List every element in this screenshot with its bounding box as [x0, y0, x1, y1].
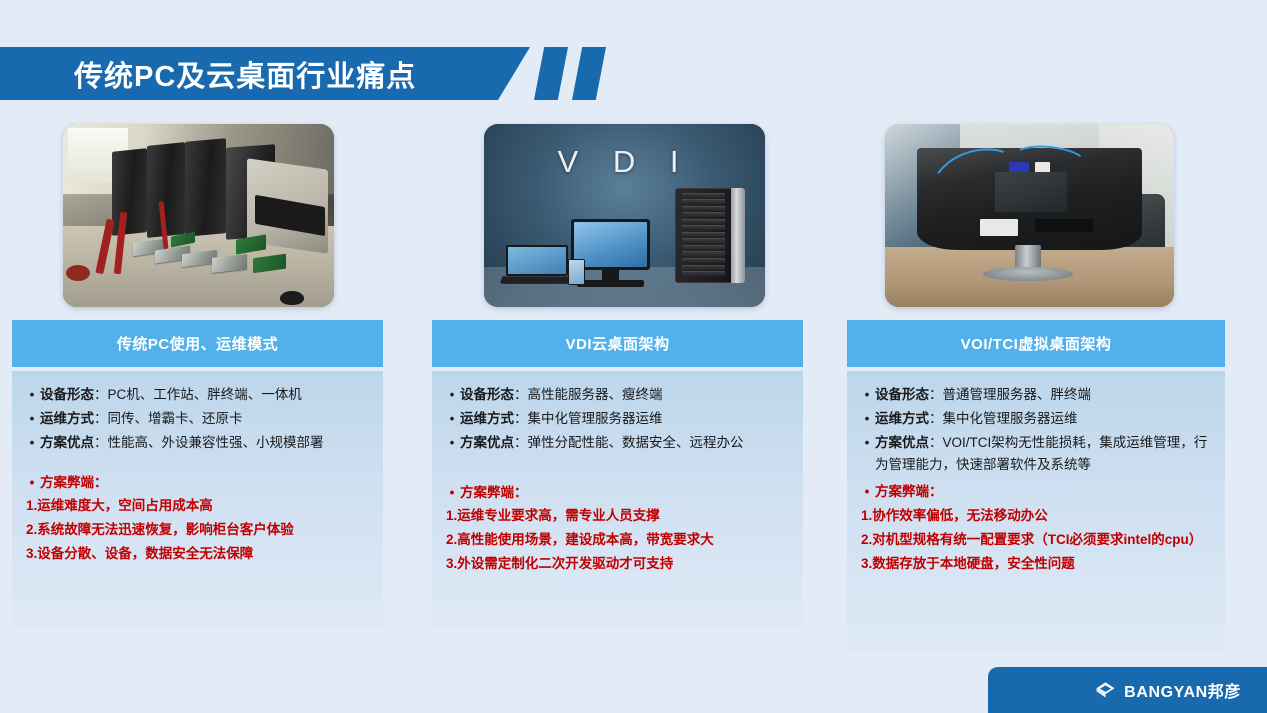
- photo1-pc-tower: [185, 139, 226, 238]
- photo1-pc-tower: [112, 148, 147, 236]
- photo2-monitor-base: [577, 280, 644, 287]
- bullet-label: 设备形态: [875, 387, 929, 402]
- bullet-label: 设备形态: [460, 387, 514, 402]
- spacer: [24, 456, 373, 472]
- card-header-label: VOI/TCI虚拟桌面架构: [961, 333, 1112, 354]
- bullet-dot-icon: •: [444, 482, 460, 504]
- photo2-laptop: [506, 245, 568, 276]
- bullet-label: 运维方式: [875, 411, 929, 426]
- bullet-item: • 方案优点：弹性分配性能、数据安全、远程办公: [444, 432, 793, 454]
- photo2-rack-blade: [682, 199, 726, 204]
- cons-title-label: 方案弊端：: [40, 472, 108, 494]
- bullet-separator: ：: [929, 387, 943, 402]
- photo2-rack-blade: [682, 206, 726, 211]
- photo2-rack-side-panel: [731, 188, 745, 283]
- photo2-rack-blade: [682, 271, 726, 276]
- card-header: 传统PC使用、运维模式: [12, 320, 383, 367]
- photo2-rack-blade: [682, 232, 726, 237]
- cons-title: • 方案弊端：: [24, 472, 373, 494]
- bullet-label: 方案优点: [875, 435, 929, 450]
- bullet-dot-icon: •: [24, 384, 40, 406]
- bullet-item: • 方案优点：VOI/TCI架构无性能损耗，集成运维管理，行为管理能力，快速部署…: [859, 432, 1215, 476]
- bullet-label: 方案优点: [40, 435, 94, 450]
- card-header: VOI/TCI虚拟桌面架构: [847, 320, 1225, 367]
- bullet-value: 集中化管理服务器运维: [528, 411, 663, 426]
- card-header: VDI云桌面架构: [432, 320, 803, 367]
- cons-item: 2.系统故障无法迅速恢复，影响柜台客户体验: [24, 519, 373, 541]
- card-header-label: VDI云桌面架构: [565, 333, 669, 354]
- photo-row: V D I: [0, 124, 1267, 311]
- photo2-phone-screen: [569, 260, 584, 284]
- bullet-separator: ：: [514, 435, 528, 450]
- diamond-logo-icon: [1095, 680, 1116, 701]
- card-body: • 设备形态：普通管理服务器、胖终端 • 运维方式：集中化管理服务器运维 • 方…: [847, 371, 1225, 653]
- photo2-rack-blade: [682, 251, 726, 256]
- photo-vdi-architecture: V D I: [484, 124, 765, 307]
- bullet-value: 高性能服务器、瘦终端: [528, 387, 663, 402]
- photo2-rack-blade: [682, 212, 726, 217]
- bullet-dot-icon: •: [444, 384, 460, 406]
- bullet-value: 性能高、外设兼容性强、小规模部署: [108, 435, 324, 450]
- cons-item: 1.运维难度大，空间占用成本高: [24, 495, 373, 517]
- title-accent-slash-1: [534, 47, 568, 100]
- photo2-laptop-keyboard: [499, 276, 573, 284]
- brand-logo: BANGYAN邦彦: [1095, 678, 1241, 702]
- cons-item: 1.协作效率偏低，无法移动办公: [859, 505, 1215, 527]
- bullet-value: 普通管理服务器、胖终端: [943, 387, 1092, 402]
- bullet-label: 运维方式: [40, 411, 94, 426]
- footer-logo-bar: BANGYAN邦彦: [988, 667, 1267, 713]
- cons-item: 3.数据存放于本地硬盘，安全性问题: [859, 553, 1215, 575]
- bullet-separator: ：: [514, 387, 528, 402]
- brand-logo-text: BANGYAN邦彦: [1124, 678, 1241, 702]
- card-header-label: 传统PC使用、运维模式: [117, 333, 278, 354]
- bullet-item: • 设备形态：高性能服务器、瘦终端: [444, 384, 793, 406]
- card-body: • 设备形态：PC机、工作站、胖终端、一体机 • 运维方式：同传、增霸卡、还原卡…: [12, 371, 383, 629]
- photo-monitor-rear-thin-client: [885, 124, 1174, 307]
- cons-item: 3.外设需定制化二次开发驱动才可支持: [444, 553, 793, 575]
- page-title: 传统PC及云桌面行业痛点: [74, 53, 416, 95]
- cons-title-label: 方案弊端：: [460, 482, 528, 504]
- bullet-item: • 运维方式：集中化管理服务器运维: [444, 408, 793, 430]
- bullet-separator: ：: [94, 387, 108, 402]
- photo2-vdi-label: V D I: [484, 144, 765, 180]
- bullet-dot-icon: •: [859, 408, 875, 430]
- photo2-rack-blade: [682, 258, 726, 263]
- card-vdi: VDI云桌面架构 • 设备形态：高性能服务器、瘦终端 • 运维方式：集中化管理服…: [432, 320, 803, 629]
- card-traditional-pc: 传统PC使用、运维模式 • 设备形态：PC机、工作站、胖终端、一体机 • 运维方…: [12, 320, 383, 629]
- bullet-separator: ：: [514, 411, 528, 426]
- cons-item: 2.高性能使用场景，建设成本高，带宽要求大: [444, 529, 793, 551]
- bullet-item: • 设备形态：PC机、工作站、胖终端、一体机: [24, 384, 373, 406]
- bullet-value: 集中化管理服务器运维: [943, 411, 1078, 426]
- photo1-mouse: [280, 291, 304, 306]
- photo2-rack-blade: [682, 265, 726, 270]
- photo3-spec-label: [980, 219, 1018, 235]
- bullet-dot-icon: •: [444, 408, 460, 430]
- bullet-label: 方案优点: [460, 435, 514, 450]
- bullet-value: PC机、工作站、胖终端、一体机: [108, 387, 302, 402]
- cons-item: 1.运维专业要求高，需专业人员支撑: [444, 505, 793, 527]
- bullet-item: • 方案优点：性能高、外设兼容性强、小规模部署: [24, 432, 373, 454]
- bullet-item: • 运维方式：同传、增霸卡、还原卡: [24, 408, 373, 430]
- photo3-port-panel: [1035, 219, 1093, 232]
- bullet-value: 同传、增霸卡、还原卡: [108, 411, 243, 426]
- photo2-rack-blade: [682, 245, 726, 250]
- card-body: • 设备形态：高性能服务器、瘦终端 • 运维方式：集中化管理服务器运维 • 方案…: [432, 371, 803, 629]
- bullet-item: • 运维方式：集中化管理服务器运维: [859, 408, 1215, 430]
- photo2-smartphone: [568, 259, 585, 285]
- bullet-dot-icon: •: [859, 432, 875, 454]
- card-voi-tci: VOI/TCI虚拟桌面架构 • 设备形态：普通管理服务器、胖终端 • 运维方式：…: [847, 320, 1225, 653]
- bullet-separator: ：: [929, 435, 943, 450]
- bullet-label: 设备形态: [40, 387, 94, 402]
- bullet-dot-icon: •: [444, 432, 460, 454]
- cons-title: • 方案弊端：: [859, 481, 1215, 503]
- cons-item: 3.设备分散、设备，数据安全无法保障: [24, 543, 373, 565]
- photo2-rack-blade: [682, 225, 726, 230]
- bullet-separator: ：: [929, 411, 943, 426]
- bullet-separator: ：: [94, 411, 108, 426]
- photo2-laptop-screen: [508, 247, 566, 274]
- bullet-dot-icon: •: [24, 432, 40, 454]
- cons-item: 2.对机型规格有统一配置要求（TCI必须要求intel的cpu）: [859, 529, 1215, 551]
- bullet-dot-icon: •: [24, 472, 40, 494]
- bullet-item: • 设备形态：普通管理服务器、胖终端: [859, 384, 1215, 406]
- bullet-label: 运维方式: [460, 411, 514, 426]
- bullet-value: 弹性分配性能、数据安全、远程办公: [528, 435, 744, 450]
- photo-messy-pc-workbench: [63, 124, 334, 307]
- slide-root: 传统PC及云桌面行业痛点: [0, 0, 1267, 713]
- photo2-rack-blade: [682, 238, 726, 243]
- cons-title: • 方案弊端：: [444, 482, 793, 504]
- bullet-dot-icon: •: [859, 384, 875, 406]
- cons-title-label: 方案弊端：: [875, 481, 943, 503]
- bullet-dot-icon: •: [859, 481, 875, 503]
- photo2-rack-blade: [682, 193, 726, 198]
- title-accent-slash-2: [572, 47, 606, 100]
- bullet-dot-icon: •: [24, 408, 40, 430]
- photo2-rack-blade: [682, 219, 726, 224]
- slide-title-banner: 传统PC及云桌面行业痛点: [0, 47, 530, 100]
- spacer: [444, 456, 793, 482]
- bullet-separator: ：: [94, 435, 108, 450]
